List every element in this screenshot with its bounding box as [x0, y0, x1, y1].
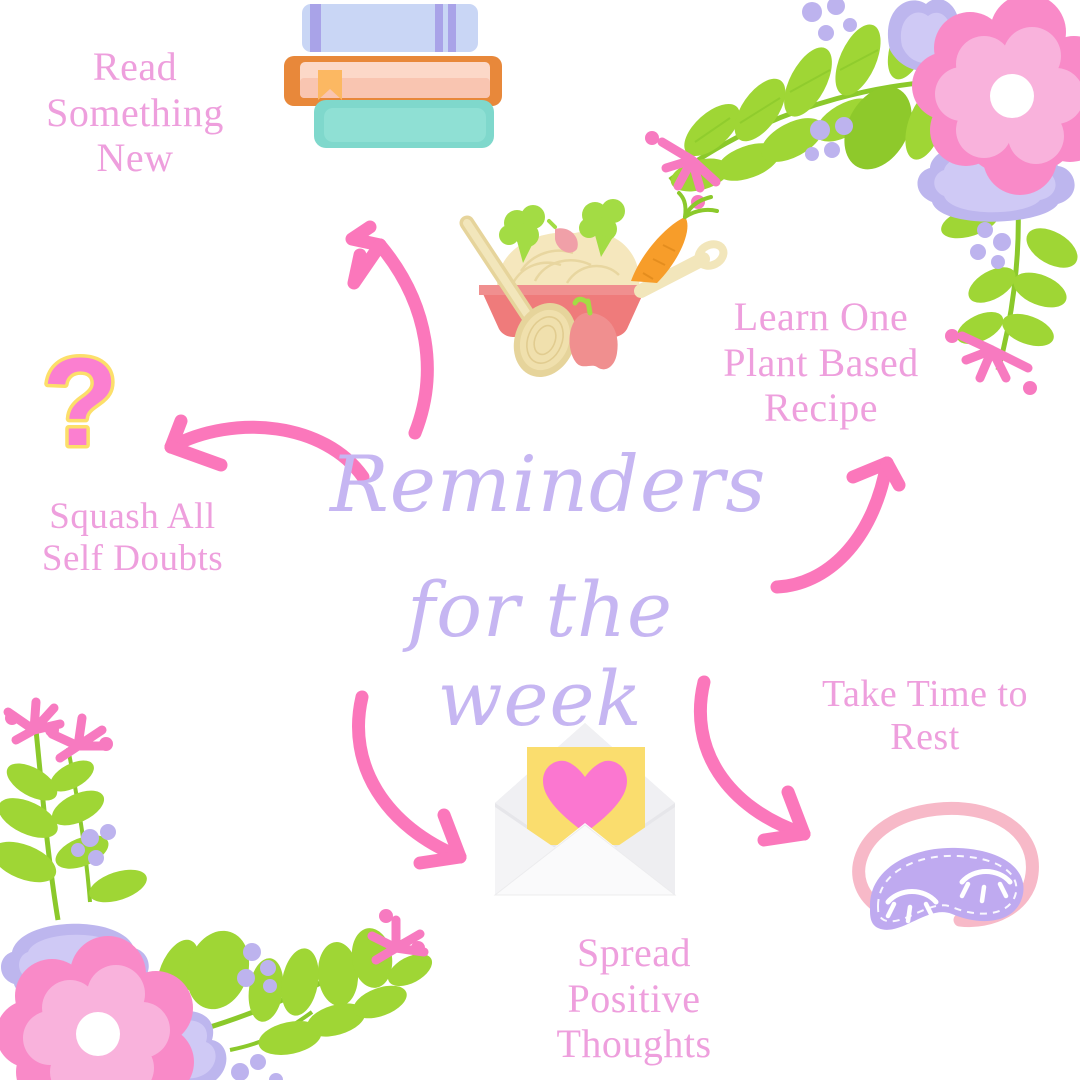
reminder-label-read-something-new: Read Something New	[10, 44, 260, 181]
question-mark-icon: ?	[28, 345, 158, 485]
reminder-label-spread-positive-thoughts: Spread Positive Thoughts	[505, 930, 763, 1067]
page-title-line-2: for the week	[300, 565, 780, 743]
reminder-label-learn-plant-based-recipe: Learn One Plant Based Recipe	[690, 294, 952, 431]
infographic-canvas: ?	[0, 0, 1080, 1080]
arrow-to-recipe-icon	[765, 435, 935, 605]
book-stack-icon	[288, 0, 518, 155]
svg-text:?: ?	[42, 333, 118, 472]
sleep-mask-icon	[840, 790, 1050, 965]
page-title-line-1: Reminders	[330, 440, 750, 530]
reminder-label-squash-self-doubts: Squash All Self Doubts	[0, 496, 265, 580]
reminder-label-take-time-to-rest: Take Time to Rest	[775, 673, 1075, 760]
